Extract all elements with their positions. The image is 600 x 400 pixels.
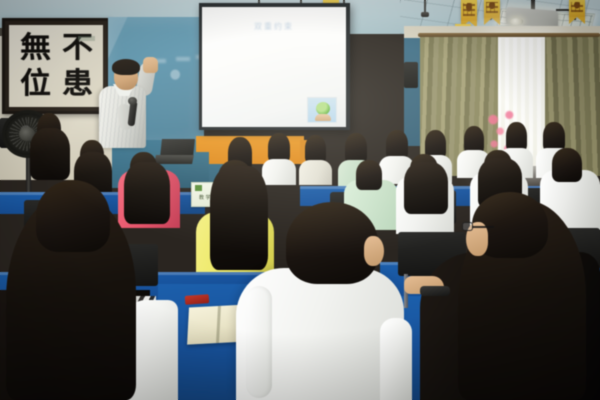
audience-head bbox=[552, 148, 582, 182]
track-light-head bbox=[421, 12, 429, 17]
laptop-keyboard bbox=[154, 155, 194, 164]
eyeglasses-arm bbox=[472, 226, 494, 228]
audience-torso-back bbox=[262, 159, 296, 185]
presenter-hand bbox=[143, 57, 158, 73]
photo-classroom-lecture: 無 不 位 患 印 双重约束 bbox=[0, 0, 600, 400]
projector-lens bbox=[510, 18, 523, 25]
name-card-logo bbox=[195, 185, 202, 191]
projection-screen-surface: 双重约束 bbox=[202, 7, 346, 127]
screen-glare bbox=[202, 7, 346, 79]
audience-head bbox=[356, 160, 382, 190]
audience-long-hair bbox=[30, 128, 70, 180]
audience-long-hair bbox=[124, 162, 170, 224]
board-faint-note bbox=[176, 57, 190, 61]
slide-thumbnail-globe bbox=[307, 97, 337, 123]
shirt-sleeve-seam bbox=[246, 286, 272, 398]
calligraphy-char-4: 患 bbox=[63, 69, 94, 98]
foreground-man-ear bbox=[364, 236, 384, 266]
projection-screen: 双重约束 bbox=[199, 3, 350, 130]
framed-calligraphy: 無 不 位 患 印 bbox=[2, 18, 110, 114]
microphone-head bbox=[128, 97, 137, 105]
calligraphy-seal: 印 bbox=[78, 36, 95, 41]
slide-title: 双重约束 bbox=[202, 21, 346, 32]
red-phone-case bbox=[185, 294, 210, 305]
audience-long-hair bbox=[404, 162, 448, 214]
calligraphy-paper: 無 不 位 患 印 bbox=[9, 25, 103, 107]
audience-long-hair bbox=[210, 166, 268, 270]
foreground-sleeve-right bbox=[380, 318, 412, 400]
audience-torso-back bbox=[299, 160, 332, 185]
calligraphy-char-1: 無 bbox=[21, 33, 52, 62]
presenter-hair bbox=[112, 59, 140, 75]
calligraphy-char-3: 位 bbox=[21, 69, 52, 98]
hand-icon bbox=[315, 114, 331, 121]
hanging-banner bbox=[484, 0, 500, 18]
wall-speaker bbox=[404, 62, 418, 88]
hanging-banner bbox=[569, 0, 585, 17]
curtain-rod bbox=[418, 33, 600, 37]
notebook-spine bbox=[216, 306, 221, 343]
phone-in-hand bbox=[420, 286, 450, 296]
foreground-head-left bbox=[36, 180, 110, 252]
hanging-banner bbox=[461, 0, 477, 21]
